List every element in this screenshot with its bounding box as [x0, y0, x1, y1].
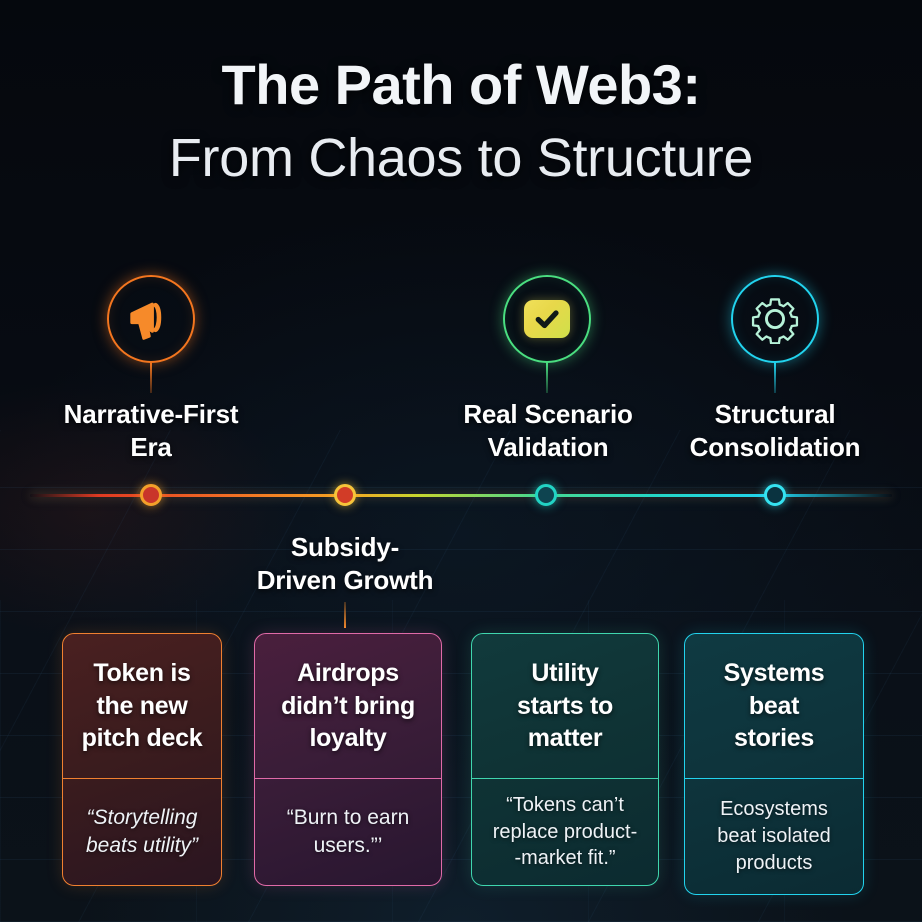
card-headline: Utility starts to matter: [472, 634, 658, 779]
card-headline-line-3: stories: [724, 722, 825, 755]
timeline: [0, 478, 922, 514]
megaphone-icon: [125, 293, 177, 345]
icon-connector-green: [546, 363, 548, 393]
card-headline-line-3: matter: [517, 722, 613, 755]
card-quote-line-1: “Tokens can’t: [493, 792, 638, 819]
card-quote: “Burn to earn users.”’: [255, 779, 441, 885]
card-headline: Token is the new pitch deck: [63, 634, 221, 779]
card-headline-line-1: Systems: [724, 657, 825, 690]
stage-label-narrative-first: Narrative-First Era: [8, 398, 294, 465]
stage-label-structural: Structural Consolidation: [645, 398, 905, 465]
stage-label-line-2: Driven Growth: [214, 564, 476, 597]
insight-card-1[interactable]: Token is the new pitch deck “Storytellin…: [62, 633, 222, 886]
stage-label-subsidy-driven: Subsidy- Driven Growth: [214, 531, 476, 598]
title-line-1: The Path of Web3:: [0, 56, 922, 115]
card-quote-line-3: -market fit.”: [493, 845, 638, 872]
card-quote-line-1: “Burn to earn: [287, 804, 410, 832]
card-quote: “Storytelling beats utility”: [63, 779, 221, 885]
card-headline: Airdrops didn’t bring loyalty: [255, 634, 441, 779]
insight-card-4[interactable]: Systems beat stories Ecosystems beat iso…: [684, 633, 864, 895]
card-headline-line-2: didn’t bring: [281, 690, 415, 723]
icon-ring-cyan: [731, 275, 819, 363]
page-title: The Path of Web3: From Chaos to Structur…: [0, 56, 922, 189]
card-quote: “Tokens can’t replace product- -market f…: [472, 779, 658, 885]
icon-connector-cyan: [774, 363, 776, 393]
stage-label-line-1: Structural: [645, 398, 905, 431]
icon-connector-orange: [150, 363, 152, 393]
card-quote-line-2: beat isolated: [717, 823, 830, 850]
card-quote-line-1: Ecosystems: [717, 796, 830, 823]
timeline-node-1[interactable]: [140, 484, 162, 506]
stage-label-line-1: Narrative-First: [8, 398, 294, 431]
stage-icon-structural[interactable]: [731, 275, 819, 393]
timeline-node-4[interactable]: [764, 484, 786, 506]
label-connector-orange: [344, 602, 346, 628]
card-quote-line-2: beats utility”: [86, 832, 198, 860]
timeline-node-3[interactable]: [535, 484, 557, 506]
card-headline-line-3: pitch deck: [82, 722, 203, 755]
card-headline-line-1: Airdrops: [281, 657, 415, 690]
infographic-canvas: The Path of Web3: From Chaos to Structur…: [0, 0, 922, 922]
card-quote: Ecosystems beat isolated products: [685, 779, 863, 894]
stage-label-line-2: Era: [8, 431, 294, 464]
card-headline-line-3: loyalty: [281, 722, 415, 755]
card-quote-line-2: replace product-: [493, 819, 638, 846]
card-headline: Systems beat stories: [685, 634, 863, 779]
card-headline-line-1: Token is: [82, 657, 203, 690]
icon-ring-green: [503, 275, 591, 363]
card-headline-line-2: starts to: [517, 690, 613, 723]
title-line-2: From Chaos to Structure: [0, 127, 922, 189]
timeline-node-2[interactable]: [334, 484, 356, 506]
card-quote-line-3: products: [717, 850, 830, 877]
check-icon: [524, 300, 570, 338]
insight-card-2[interactable]: Airdrops didn’t bring loyalty “Burn to e…: [254, 633, 442, 886]
stage-icon-narrative-first[interactable]: [107, 275, 195, 393]
icon-ring-orange: [107, 275, 195, 363]
gear-icon: [750, 294, 800, 344]
stage-icon-real-scenario[interactable]: [503, 275, 591, 393]
stage-label-line-2: Consolidation: [645, 431, 905, 464]
card-headline-line-2: beat: [724, 690, 825, 723]
card-headline-line-1: Utility: [517, 657, 613, 690]
stage-label-line-1: Subsidy-: [214, 531, 476, 564]
card-quote-line-2: users.”’: [287, 832, 410, 860]
insight-card-3[interactable]: Utility starts to matter “Tokens can’t r…: [471, 633, 659, 886]
card-headline-line-2: the new: [82, 690, 203, 723]
card-quote-line-1: “Storytelling: [86, 804, 198, 832]
